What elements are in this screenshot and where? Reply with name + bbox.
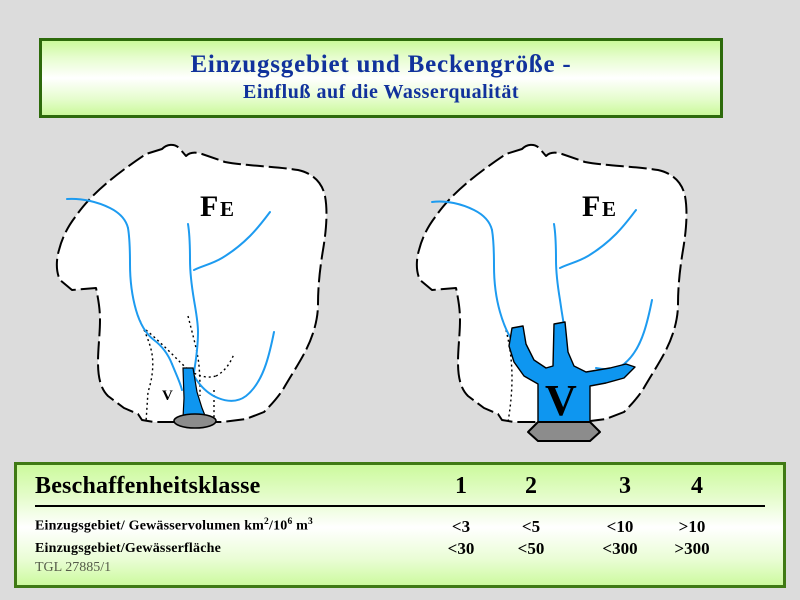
table-cell-r1c4: >10 — [662, 517, 722, 537]
table-cell-r2c1: <30 — [431, 539, 491, 559]
table-cell-r1c1: <3 — [431, 517, 491, 537]
catchment-area-label-left: F — [200, 190, 218, 223]
table-row-label-1-main: Einzugsgebiet/ Gewässervolumen km — [35, 519, 264, 534]
table-cell-r1c2: <5 — [501, 517, 561, 537]
table-row-label-1-sup3: 3 — [308, 517, 313, 527]
catchment-area-label-right: F — [582, 190, 600, 223]
slide-canvas: Einzugsgebiet und Beckengröße - Einfluß … — [0, 0, 800, 600]
diagram-small-reservoir: F E V — [50, 140, 350, 450]
dam-left — [174, 414, 216, 428]
title-line-2: Einfluß auf die Wasserqualität — [243, 80, 519, 105]
title-box: Einzugsgebiet und Beckengröße - Einfluß … — [39, 38, 723, 118]
table-row-label-1-mid: /10 — [269, 519, 288, 534]
table-row-label-1-tail: m — [292, 519, 308, 534]
table-row-label-2-main: Einzugsgebiet/Gewässerfläche — [35, 541, 221, 556]
table-cell-r2c3: <300 — [590, 539, 650, 559]
table-row-label-2: Einzugsgebiet/Gewässerfläche — [35, 541, 221, 557]
catchment-area-label-left-sub: E — [220, 197, 234, 221]
diagram-large-reservoir: F E V — [410, 140, 710, 450]
table-cell-r2c2: <50 — [501, 539, 561, 559]
table-header-rule — [35, 505, 765, 507]
reservoir-volume-label-right: V — [545, 376, 577, 425]
table-col-head-3: 3 — [605, 473, 645, 500]
table-header-label: Beschaffenheitsklasse — [35, 473, 261, 500]
table-cell-r2c4: >300 — [662, 539, 722, 559]
table-col-head-1: 1 — [441, 473, 481, 500]
catchment-area-label-right-sub: E — [602, 197, 616, 221]
table-source-note: TGL 27885/1 — [35, 560, 111, 576]
table-col-head-2: 2 — [511, 473, 551, 500]
classification-table-box: Beschaffenheitsklasse 1 2 3 4 Einzugsgeb… — [14, 462, 786, 588]
table-cell-r1c3: <10 — [590, 517, 650, 537]
table-col-head-4: 4 — [677, 473, 717, 500]
table-row-label-1: Einzugsgebiet/ Gewässervolumen km2/106 m… — [35, 517, 313, 535]
reservoir-volume-label-left: V — [162, 388, 173, 404]
title-line-1: Einzugsgebiet und Beckengröße - — [190, 51, 571, 79]
